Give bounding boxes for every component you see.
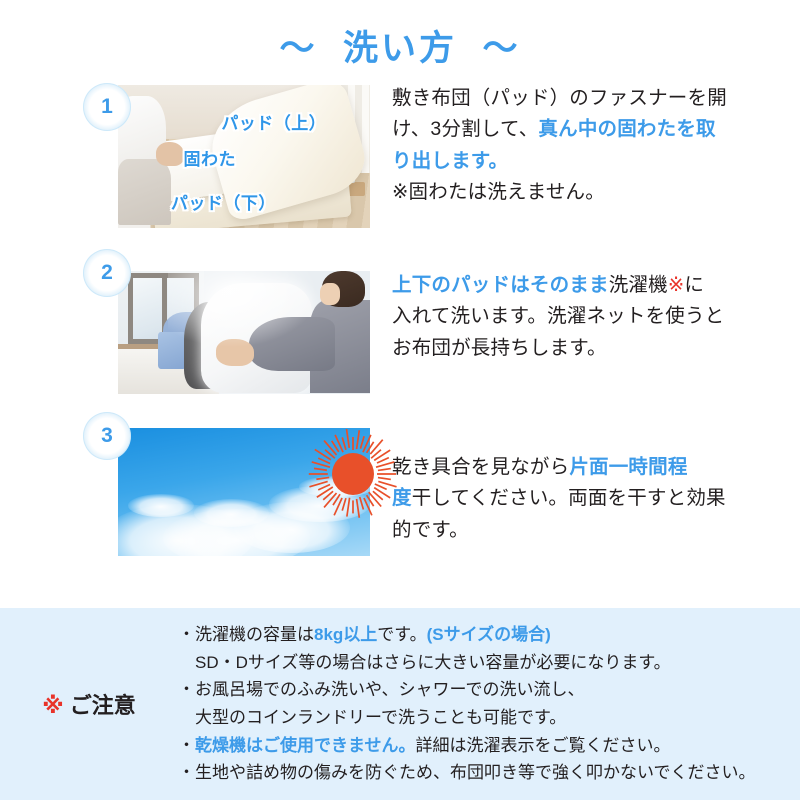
notice-bullet: ・ xyxy=(178,763,195,782)
step-3: 3 乾き具合を見ながら片面一時間程 度干してください。両面を干すと効果 的です。 xyxy=(0,410,800,556)
notice-line: SD・Dサイズ等の場合はさらに大きい容量が必要になります。 xyxy=(178,649,786,677)
notice-line: ・洗濯機の容量は8kg以上です。(Sサイズの場合) xyxy=(178,621,786,649)
notice-text-segment: 8kg以上 xyxy=(314,625,377,644)
step-2-asterisk-mark: ※ xyxy=(668,274,685,296)
step-2-line-3: お布団が長持ちします。 xyxy=(392,337,607,359)
step-number-1: 1 xyxy=(101,95,113,119)
notice-panel: ※ご注意 ・洗濯機の容量は8kg以上です。(Sサイズの場合)SD・Dサイズ等の場… xyxy=(0,608,800,800)
notice-text-segment: 洗濯機の容量は xyxy=(195,625,314,644)
notice-text-segment: (Sサイズの場合) xyxy=(427,625,551,644)
step-number-badge-3: 3 xyxy=(83,412,131,460)
photo1-person-hand xyxy=(156,142,184,166)
step-2-text: 上下のパッドはそのまま洗濯機※に 入れて洗います。洗濯ネットを使うと お布団が長… xyxy=(392,270,752,365)
notice-line: ・お風呂場でのふみ洗いや、シャワーでの洗い流し、 xyxy=(178,676,786,704)
notice-label-text: ご注意 xyxy=(70,693,136,718)
sun-icon xyxy=(307,428,399,520)
step-1-photo: パッド（上） 固わた パッド（下） xyxy=(118,85,370,228)
step-number-badge-2: 2 xyxy=(83,249,131,297)
notice-text-segment: SD・Dサイズ等の場合はさらに大きい容量が必要になります。 xyxy=(195,653,671,672)
step-2-line-1a: 上下のパッドはそのまま xyxy=(392,274,609,296)
notice-text-segment: 大型のコインランドリーで洗うことも可能です。 xyxy=(195,708,566,727)
notice-bullet: ・ xyxy=(178,736,195,755)
step-3-line-1b: 片面一時間程 xyxy=(569,456,687,478)
step-3-text: 乾き具合を見ながら片面一時間程 度干してください。両面を干すと効果 的です。 xyxy=(392,452,752,547)
page-title: 〜 洗い方 〜 xyxy=(0,0,800,69)
notice-bullet: ・ xyxy=(178,680,195,699)
step-1-line-4: ※固わたは洗えません。 xyxy=(392,181,605,203)
notice-line: ・乾燥機はご使用できません。詳細は洗濯表示をご覧ください。 xyxy=(178,732,786,760)
notice-label: ※ご注意 xyxy=(0,688,178,720)
photo1-label-upper-pad: パッド（上） xyxy=(221,109,326,134)
step-2-line-1c: に xyxy=(684,274,704,296)
step-2: 2 上下のパッドはそのまま洗濯機※に 入れて洗います。洗濯ネットを使うと お布団… xyxy=(0,245,800,394)
photo1-label-lower-pad: パッド（下） xyxy=(171,189,276,214)
photo3-cloud xyxy=(128,494,194,517)
notice-line: ・生地や詰め物の傷みを防ぐため、布団叩き等で強く叩かないでください。 xyxy=(178,759,786,787)
notice-text-segment: お風呂場でのふみ洗いや、シャワーでの洗い流し、 xyxy=(195,680,584,699)
step-number-2: 2 xyxy=(101,261,113,285)
step-3-line-3: 的です。 xyxy=(392,519,469,541)
step-1-line-2a: け、3分割して、 xyxy=(392,118,538,140)
notice-line: 大型のコインランドリーで洗うことも可能です。 xyxy=(178,704,786,732)
notice-text-segment: 詳細は洗濯表示をご覧ください。 xyxy=(416,736,671,755)
step-1-text: 敷き布団（パッド）のファスナーを開 け、3分割して、真ん中の固わたを取 り出しま… xyxy=(392,83,752,209)
photo2-window-light xyxy=(168,271,324,352)
step-1: 1 パッド（上） 固わた パッド（下） 敷き布団（パッド）のファスナーを開 け、… xyxy=(0,77,800,228)
notice-text-segment: です。 xyxy=(377,625,426,644)
step-1-line-1: 敷き布団（パッド）のファスナーを開 xyxy=(392,87,727,109)
step-3-line-1a: 乾き具合を見ながら xyxy=(392,456,569,478)
notice-text-segment: 乾燥機はご使用できません。 xyxy=(195,736,416,755)
steps-section: 1 パッド（上） 固わた パッド（下） 敷き布団（パッド）のファスナーを開 け、… xyxy=(0,77,800,556)
step-1-line-2b: 真ん中の固わたを取 xyxy=(538,118,715,140)
notice-asterisk-icon: ※ xyxy=(42,693,63,718)
step-number-3: 3 xyxy=(101,424,113,448)
notice-list: ・洗濯機の容量は8kg以上です。(Sサイズの場合)SD・Dサイズ等の場合はさらに… xyxy=(178,621,800,786)
step-2-photo xyxy=(118,271,370,394)
photo1-label-firm-batting: 固わた xyxy=(184,145,237,170)
step-2-line-1b: 洗濯機 xyxy=(609,274,668,296)
step-3-line-2b: 干してください。両面を干すと効果 xyxy=(412,487,726,509)
photo1-person-legs xyxy=(118,159,171,225)
step-2-line-2: 入れて洗います。洗濯ネットを使うと xyxy=(392,305,724,327)
notice-text-segment: 生地や詰め物の傷みを防ぐため、布団叩き等で強く叩かないでください。 xyxy=(195,763,756,782)
notice-bullet: ・ xyxy=(178,625,195,644)
step-1-line-3: り出します。 xyxy=(392,150,508,172)
step-number-badge-1: 1 xyxy=(83,83,131,131)
